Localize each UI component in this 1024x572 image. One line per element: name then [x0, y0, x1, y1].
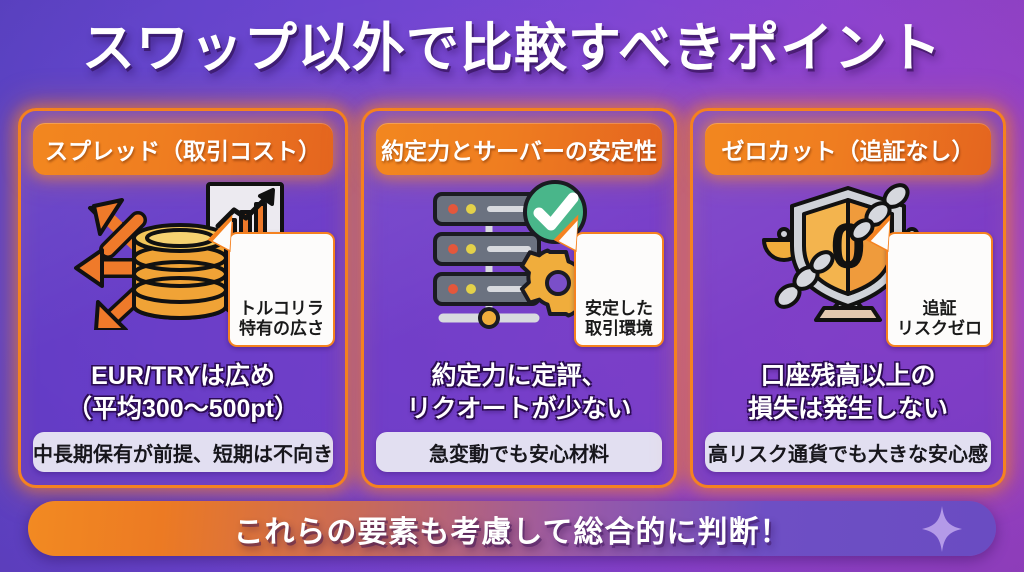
card-execution-icon-area: 安定した 取引環境	[376, 179, 662, 331]
card-grid: スプレッド（取引コスト）	[18, 108, 1006, 488]
card-spread-callout-text: トルコリラ 特有の広さ	[239, 299, 324, 338]
card-zerocut-footer: 高リスク通貨でも大きな安心感	[705, 432, 991, 472]
card-zerocut[interactable]: ゼロカット（追証なし）	[690, 108, 1006, 488]
card-spread-heading: スプレッド（取引コスト）	[33, 123, 333, 175]
card-zerocut-icon-area: 0	[705, 179, 991, 331]
bottom-banner[interactable]: これらの要素も考慮して総合的に判断！	[28, 501, 996, 556]
card-spread-icon-area: トルコリラ 特有の広さ	[33, 179, 333, 331]
card-execution-callout-text: 安定した 取引環境	[585, 299, 653, 338]
card-zerocut-callout-text: 追証 リスクゼロ	[897, 299, 982, 338]
card-zerocut-heading: ゼロカット（追証なし）	[705, 123, 991, 175]
card-execution-callout: 安定した 取引環境	[574, 232, 664, 347]
card-execution-body: 約定力に定評、 リクオートが少ない	[406, 353, 631, 432]
bottom-banner-text: これらの要素も考慮して総合的に判断！	[233, 507, 790, 551]
card-execution-heading: 約定力とサーバーの安定性	[376, 123, 662, 175]
card-spread-body: EUR/TRYは広め （平均300〜500pt）	[67, 353, 299, 432]
card-spread-callout: トルコリラ 特有の広さ	[228, 232, 335, 347]
card-zerocut-body: 口座残高以上の 損失は発生しない	[748, 353, 948, 432]
card-execution-footer: 急変動でも安心材料	[376, 432, 662, 472]
card-execution[interactable]: 約定力とサーバーの安定性	[361, 108, 677, 488]
page-title: スワップ以外で比較すべきポイント	[0, 20, 1024, 77]
slide-stage: スワップ以外で比較すべきポイント スプレッド（取引コスト）	[0, 0, 1024, 572]
card-zerocut-callout: 追証 リスクゼロ	[886, 232, 993, 347]
card-spread-footer: 中長期保有が前提、短期は不向き	[33, 432, 333, 472]
card-spread[interactable]: スプレッド（取引コスト）	[18, 108, 348, 488]
sparkle-icon	[922, 506, 962, 552]
